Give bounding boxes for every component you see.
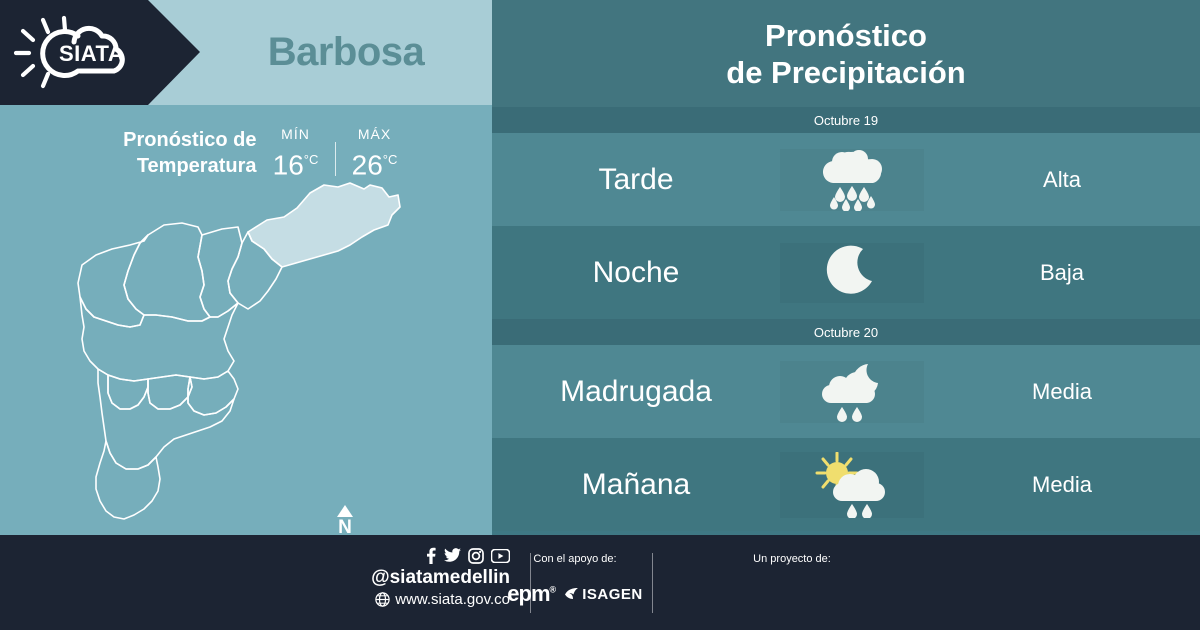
rain-cloud-heavy-icon <box>780 149 924 211</box>
forecast-period: Noche <box>492 256 780 290</box>
footer-divider <box>652 553 653 613</box>
forecast-period: Mañana <box>492 468 780 502</box>
isagen-mark-icon <box>565 588 579 601</box>
forecast-row[interactable]: Madrugada Media <box>492 345 1200 438</box>
forecast-period: Tarde <box>492 163 780 197</box>
map-region-barbosa <box>248 183 400 267</box>
isagen-logo: ISAGEN <box>565 586 643 603</box>
facebook-icon[interactable] <box>424 547 437 564</box>
precipitation-title-line1: Pronóstico <box>765 17 927 54</box>
temperature-max: MÁX 26°C <box>336 124 414 181</box>
precipitation-title-line2: de Precipitación <box>726 54 965 91</box>
north-arrow-marker: N <box>330 505 360 537</box>
temperature-min: MÍN 16°C <box>257 124 335 181</box>
sun-rain-cloud-icon <box>780 452 924 518</box>
precipitation-header: Pronóstico de Precipitación <box>492 0 1200 107</box>
twitter-icon[interactable] <box>444 548 461 563</box>
sun-cloud-icon: SIATA <box>12 14 140 92</box>
left-header-band: SIATA Barbosa <box>0 0 492 105</box>
forecast-level: Media <box>924 379 1200 405</box>
project-caption: Un proyecto de: <box>672 551 912 567</box>
temperature-max-label: MÁX <box>336 124 414 144</box>
globe-icon <box>375 592 390 607</box>
social-icons <box>300 547 510 564</box>
date-bar-oct19: Octubre 19 <box>492 107 1200 133</box>
website-line[interactable]: www.siata.gov.co <box>300 590 510 609</box>
temperature-min-unit: °C <box>304 152 319 167</box>
epm-logo: epm® <box>507 581 555 607</box>
epm-name: epm <box>507 581 549 606</box>
project-block: Un proyecto de: <box>672 551 912 567</box>
map-svg <box>52 175 472 530</box>
page-title: Barbosa <box>200 0 492 105</box>
moon-rain-cloud-icon <box>780 361 924 423</box>
siata-logo-badge[interactable]: SIATA <box>0 0 200 105</box>
website-url: www.siata.gov.co <box>395 590 510 609</box>
footer: @siatamedellin www.siata.gov.co Con el a… <box>0 535 1200 630</box>
forecast-level: Alta <box>924 167 1200 193</box>
logo-text: SIATA <box>59 41 124 66</box>
temperature-max-unit: °C <box>383 152 398 167</box>
social-block: @siatamedellin www.siata.gov.co <box>300 547 510 609</box>
forecast-level: Baja <box>924 260 1200 286</box>
left-panel: SIATA Barbosa Pronóstico de Temperatura … <box>0 0 492 535</box>
forecast-period: Madrugada <box>492 375 780 409</box>
date-bar-oct20: Octubre 20 <box>492 319 1200 345</box>
support-block: Con el apoyo de: epm® ISAGEN <box>500 551 650 607</box>
forecast-level: Media <box>924 472 1200 498</box>
social-handle[interactable]: @siatamedellin <box>300 566 510 590</box>
isagen-name: ISAGEN <box>582 586 643 603</box>
temperature-min-label: MÍN <box>257 124 335 144</box>
instagram-icon[interactable] <box>468 548 484 564</box>
forecast-row[interactable]: Mañana <box>492 438 1200 531</box>
precipitation-panel: Pronóstico de Precipitación Octubre 19 T… <box>492 0 1200 535</box>
moon-icon <box>780 243 924 303</box>
north-arrow-icon <box>337 505 353 517</box>
weather-forecast-poster: SIATA Barbosa Pronóstico de Temperatura … <box>0 0 1200 630</box>
support-caption: Con el apoyo de: <box>500 551 650 567</box>
epm-trademark: ® <box>550 585 556 595</box>
support-logos: epm® ISAGEN <box>500 581 650 607</box>
temperature-title: Pronóstico de Temperatura <box>79 127 257 179</box>
temperature-title-line1: Pronóstico de <box>79 127 257 153</box>
aburra-valley-map[interactable]: N <box>52 175 472 530</box>
forecast-row[interactable]: Tarde <box>492 133 1200 226</box>
forecast-row[interactable]: Noche Baja <box>492 226 1200 319</box>
